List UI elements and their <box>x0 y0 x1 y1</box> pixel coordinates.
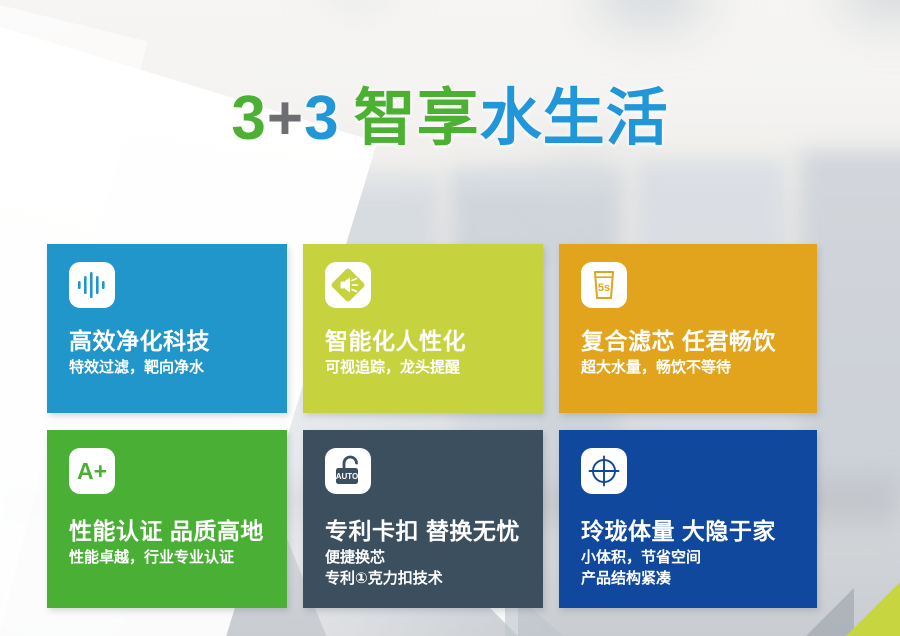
feature-card-efficient-purification[interactable]: 高效净化科技 特效过滤，靶向净水 <box>47 244 287 413</box>
crosshair-target-icon <box>581 448 627 494</box>
feature-card-title: 性能认证 品质高地 <box>69 518 287 544</box>
feature-card-subtitle: 超大水量，畅饮不等待 <box>581 358 817 379</box>
feature-card-subtitle: 小体积，节省空间 <box>581 548 817 569</box>
feature-card-title: 玲珑体量 大隐于家 <box>581 518 817 544</box>
feature-card-subtitle: 特效过滤，靶向净水 <box>69 358 287 379</box>
feature-card-title: 复合滤芯 任君畅饮 <box>581 328 817 354</box>
padlock-icon-label: AUTO <box>336 472 359 481</box>
waveform-icon <box>69 262 115 308</box>
glass-icon-label: 5s <box>598 282 610 294</box>
feature-card-performance-certified[interactable]: A+ 性能认证 品质高地 性能卓越，行业专业认证 <box>47 430 287 608</box>
feature-card-composite-filter[interactable]: 5s 复合滤芯 任君畅饮 超大水量，畅饮不等待 <box>559 244 817 413</box>
page-title: 3+3智享水生活 <box>0 88 900 150</box>
title-part-1: 3 <box>231 88 266 150</box>
feature-card-smart-humanized[interactable]: 智能化人性化 可视追踪，龙头提醒 <box>303 244 543 413</box>
feature-card-subtitle: 性能卓越，行业专业认证 <box>69 548 287 569</box>
feature-card-subtitle-secondary: 产品结构紧凑 <box>581 569 817 590</box>
feature-card-patented-clip[interactable]: AUTO 专利卡扣 替换无忧 便捷换芯 专利①克力扣技术 <box>303 430 543 608</box>
a-plus-label: A+ <box>77 460 107 483</box>
title-part-plus: + <box>267 88 304 150</box>
speaker-diamond-icon <box>325 262 371 308</box>
feature-card-grid: 高效净化科技 特效过滤，靶向净水 智能化 <box>47 244 853 608</box>
feature-card-title: 高效净化科技 <box>69 328 287 354</box>
water-glass-5s-icon: 5s <box>581 262 627 308</box>
title-part-2: 3 <box>304 88 339 150</box>
corner-lime-wedge <box>846 582 900 636</box>
feature-card-subtitle-secondary: 专利①克力扣技术 <box>325 569 543 590</box>
feature-card-title: 专利卡扣 替换无忧 <box>325 518 543 544</box>
feature-card-subtitle: 便捷换芯 <box>325 548 543 569</box>
title-part-4: 水生活 <box>480 88 669 150</box>
unlocked-padlock-auto-icon: AUTO <box>325 448 371 494</box>
promo-banner: 3+3智享水生活 高效净化科技 特效过滤，靶向净水 <box>0 0 900 636</box>
background-lamp <box>545 150 615 192</box>
title-part-3: 智享 <box>354 88 480 150</box>
feature-card-title: 智能化人性化 <box>325 328 543 354</box>
feature-card-subtitle: 可视追踪，龙头提醒 <box>325 358 543 379</box>
feature-card-compact-size[interactable]: 玲珑体量 大隐于家 小体积，节省空间 产品结构紧凑 <box>559 430 817 608</box>
a-plus-rating-icon: A+ <box>69 448 115 494</box>
